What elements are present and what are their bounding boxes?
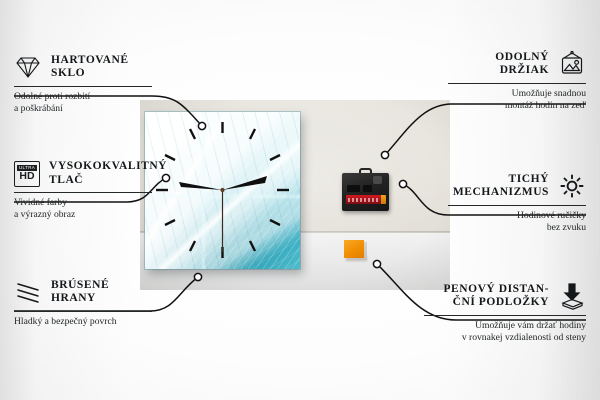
node-durable-hanger	[381, 151, 388, 158]
callout-foam-pads: Penový distan- ční podložky Umožňuje vám…	[424, 282, 586, 343]
callout-description: Umožňuje snadnou montáž hodin na zeď	[448, 88, 586, 111]
ultra-hd-badge-icon: ultra HD	[14, 161, 40, 187]
callout-divider	[14, 86, 152, 87]
callout-durable-hanger: Odolný držiak Umožňuje snadnou montáž ho…	[448, 50, 586, 111]
wire-durable-hanger	[385, 104, 586, 155]
node-ground-edges	[194, 273, 201, 280]
hanging-picture-frame-icon	[558, 50, 586, 78]
diamond-icon	[14, 53, 42, 81]
callout-divider	[424, 315, 586, 316]
callout-silent-mechanism: Tichý mechanizmus Hodinové ručičky bez z…	[448, 172, 586, 233]
node-foam-pads	[373, 260, 380, 267]
gear-icon	[558, 172, 586, 200]
node-tempered-glass	[198, 122, 205, 129]
arrow-onto-pad-icon	[558, 282, 586, 310]
callout-ground-edges: Brúsené hrany Hladký a bezpečný povrch	[14, 278, 152, 328]
callout-divider	[14, 192, 152, 193]
callout-description: Odolné proti rozbití a poškrábání	[14, 91, 152, 114]
diagonal-lines-icon	[14, 278, 42, 306]
callout-description: Hladký a bezpečný povrch	[14, 316, 152, 328]
callout-title: Penový distan- ční podložky	[443, 283, 549, 310]
callout-tempered-glass: Hartované sklo Odolné proti rozbití a po…	[14, 53, 152, 114]
callout-title: Tichý mechanizmus	[453, 173, 549, 200]
callout-title: Vysokokvalitný tlač	[49, 160, 167, 187]
callout-divider	[448, 205, 586, 206]
callout-hd-print: ultra HD Vysokokvalitný tlač Vividné far…	[14, 160, 152, 220]
callout-description: Umožňuje vám držať hodiny v rovnakej vzd…	[424, 320, 586, 343]
ultra-hd-badge-main-text: HD	[19, 171, 34, 182]
callout-divider	[448, 83, 586, 84]
callout-title: Brúsené hrany	[51, 279, 109, 306]
infographic-canvas: Hartované sklo Odolné proti rozbití a po…	[0, 0, 600, 400]
callout-description: Vividné farby a výrazný obraz	[14, 197, 152, 220]
callout-title: Hartované sklo	[51, 54, 129, 81]
callout-description: Hodinové ručičky bez zvuku	[448, 210, 586, 233]
callout-divider	[14, 311, 152, 312]
node-silent-mechanism	[399, 180, 406, 187]
callout-title: Odolný držiak	[495, 51, 549, 78]
